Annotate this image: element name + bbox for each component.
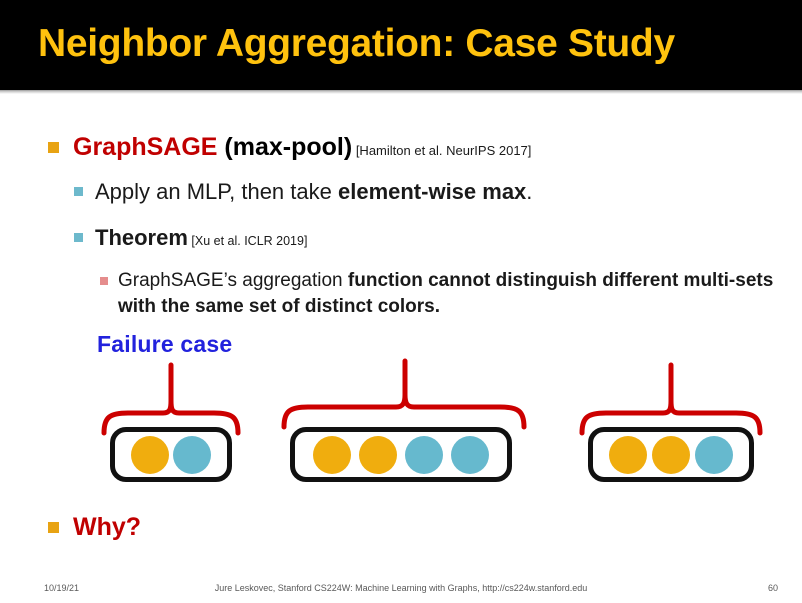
multiset-box-2 <box>290 427 512 482</box>
footer-attribution: Jure Leskovec, Stanford CS224W: Machine … <box>0 583 802 593</box>
theorem-citation: [Xu et al. ICLR 2019] <box>188 234 308 248</box>
bullet-marker-level2-theorem <box>74 233 83 242</box>
why-text: Why? <box>73 510 141 544</box>
apply-prefix: Apply an MLP, then take <box>95 179 338 204</box>
footer-page-number: 60 <box>768 583 778 593</box>
node-teal <box>405 436 443 474</box>
node-yellow <box>359 436 397 474</box>
title-bar-shadow <box>0 90 802 94</box>
bullet-theorem-body: GraphSAGE’s aggregation function cannot … <box>100 268 780 320</box>
bullet-graphsage-text: GraphSAGE (max-pool) [Hamilton et al. Ne… <box>73 130 531 168</box>
bullet-marker-level3 <box>100 277 108 285</box>
theorem-label: Theorem <box>95 225 188 250</box>
bullet-marker-level1 <box>48 142 59 153</box>
brace-icon-2 <box>284 361 524 427</box>
brace-icon-3 <box>582 365 760 433</box>
multiset-box-3 <box>588 427 754 482</box>
apply-emphasis: element-wise max <box>338 179 526 204</box>
graphsage-citation: [Hamilton et al. NeurIPS 2017] <box>352 143 531 158</box>
apply-suffix: . <box>526 179 532 204</box>
brace-icon-1 <box>104 365 238 433</box>
failure-case-diagram <box>0 355 802 495</box>
graphsage-variant: (max-pool) <box>217 133 352 161</box>
node-teal <box>451 436 489 474</box>
bullet-apply-mlp: Apply an MLP, then take element-wise max… <box>74 176 774 207</box>
footer: 10/19/21 Jure Leskovec, Stanford CS224W:… <box>0 583 802 603</box>
bullet-why: Why? <box>48 510 448 544</box>
node-yellow <box>609 436 647 474</box>
bullet-marker-level2 <box>74 187 83 196</box>
bullet-theorem: Theorem [Xu et al. ICLR 2019] <box>74 222 774 257</box>
bullet-apply-text: Apply an MLP, then take element-wise max… <box>95 176 532 207</box>
node-yellow <box>313 436 351 474</box>
bullet-theorem-text: Theorem [Xu et al. ICLR 2019] <box>95 222 307 257</box>
node-yellow <box>131 436 169 474</box>
graphsage-label: GraphSAGE <box>73 133 217 161</box>
failure-case-label: Failure case <box>97 331 232 358</box>
bullet-theorem-body-text: GraphSAGE’s aggregation function cannot … <box>118 268 780 320</box>
node-yellow <box>652 436 690 474</box>
node-teal <box>695 436 733 474</box>
theorem-body-prefix: GraphSAGE’s aggregation <box>118 270 348 291</box>
node-teal <box>173 436 211 474</box>
bullet-marker-level1-why <box>48 522 59 533</box>
page-title: Neighbor Aggregation: Case Study <box>38 18 778 70</box>
multiset-box-1 <box>110 427 232 482</box>
bullet-graphsage: GraphSAGE (max-pool) [Hamilton et al. Ne… <box>48 130 778 168</box>
